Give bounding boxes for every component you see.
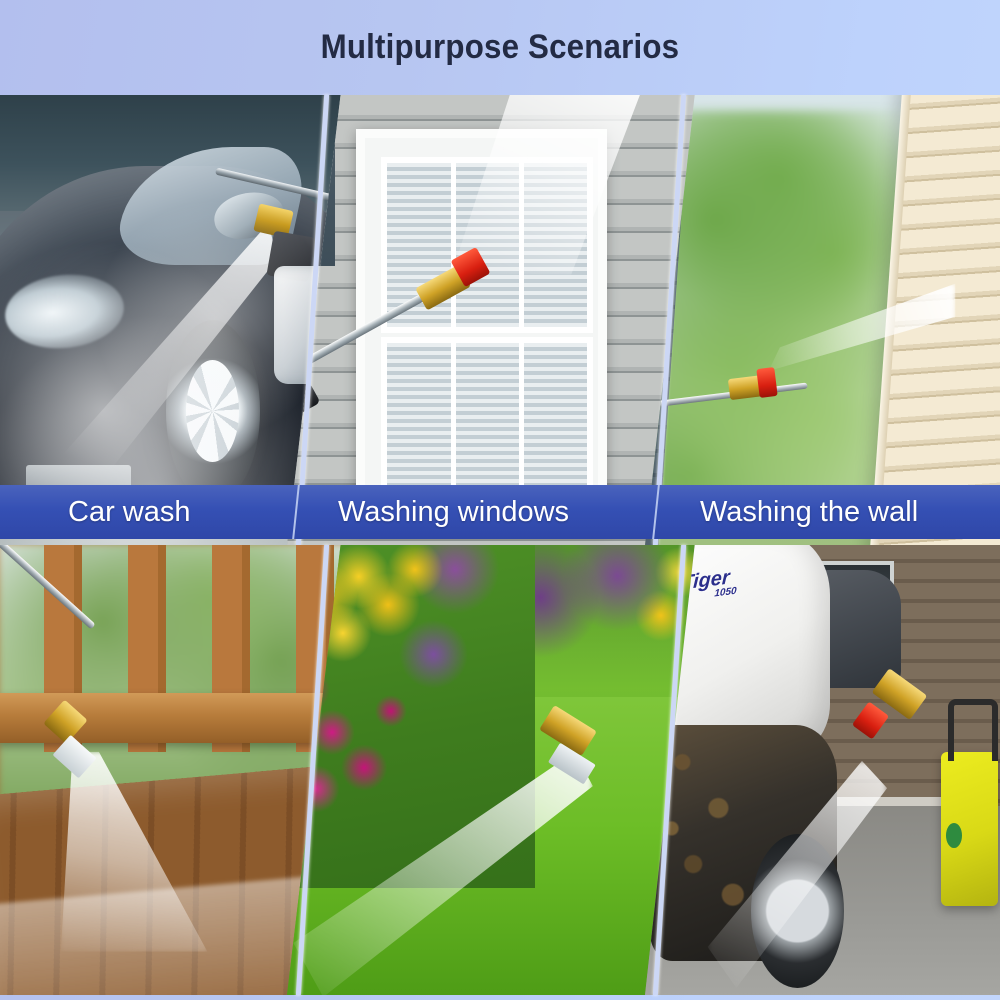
car-wash-photo: [0, 95, 345, 545]
scenario-cell-washing-wall[interactable]: [645, 95, 1000, 545]
window-mullion: [519, 343, 524, 507]
scenario-cell-washing-windows[interactable]: [287, 95, 699, 545]
caption-divider: [652, 485, 660, 539]
scenario-cell-watering-flowers[interactable]: [287, 545, 699, 995]
caption-car-wash: Car wash: [68, 485, 191, 539]
washing-wall-photo: [645, 95, 1000, 545]
caption-band-row-1: Car wash Washing windows Washing the wal…: [0, 485, 1000, 539]
scenario-cell-cleaning-motorcycles[interactable]: Tiger 1050: [645, 545, 1000, 995]
caption-washing-windows: Washing windows: [338, 485, 569, 539]
window-mullion: [451, 343, 456, 507]
scenario-cell-car-wash[interactable]: [0, 95, 345, 545]
page-title: Multipurpose Scenarios: [321, 28, 680, 67]
scenario-row-2: Tiger 1050 Washing t: [0, 545, 1000, 995]
watering-flowers-photo: [287, 545, 699, 995]
motorcycle-decal-number: 1050: [715, 585, 738, 599]
pressure-washer-unit: [941, 752, 998, 906]
scenario-grid: Car wash Washing windows Washing the wal…: [0, 95, 1000, 995]
washing-windows-photo: [287, 95, 699, 545]
caption-divider: [292, 485, 300, 539]
window-mullion: [451, 163, 456, 327]
scenario-row-1: Car wash Washing windows Washing the wal…: [0, 95, 1000, 545]
cleaning-motorcycles-photo: Tiger 1050: [645, 545, 1000, 995]
scenario-cell-washing-floor[interactable]: [0, 545, 345, 995]
caption-washing-the-wall: Washing the wall: [700, 485, 918, 539]
red-nozzle-tip: [756, 367, 777, 398]
water-mist: [0, 95, 345, 545]
poster-header: Multipurpose Scenarios: [0, 0, 1000, 95]
multipurpose-scenarios-poster: Multipurpose Scenarios: [0, 0, 1000, 1000]
washing-floor-photo: [0, 545, 345, 995]
